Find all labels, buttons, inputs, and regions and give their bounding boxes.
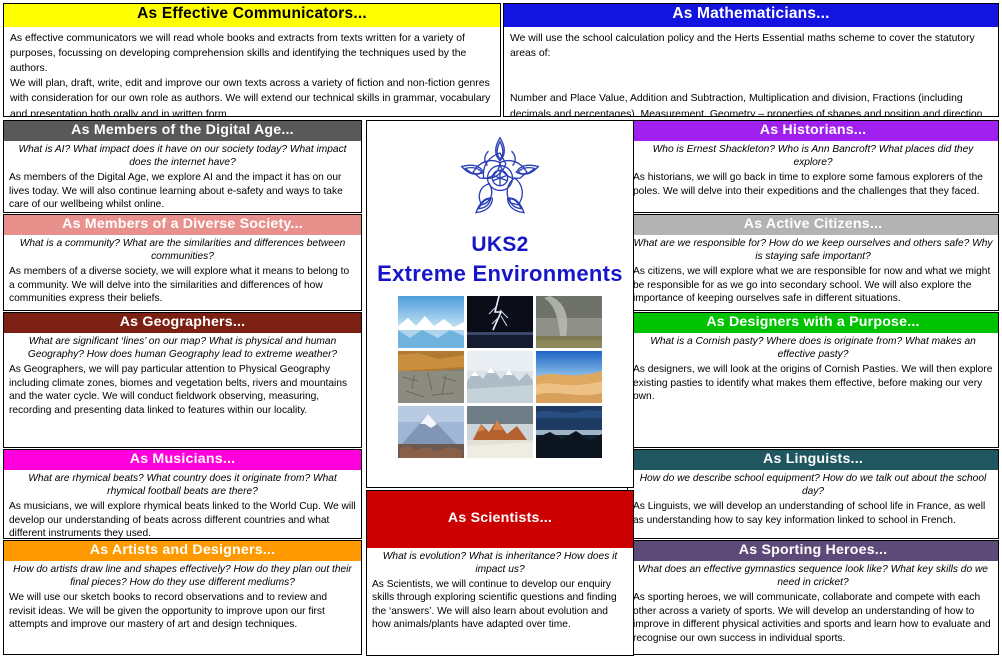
panel-mathematicians: As Mathematicians... We will use the sch… bbox=[503, 3, 999, 117]
panel-question-members-of-the-digital-age: What is AI? What impact does it have on … bbox=[9, 144, 356, 170]
photo-snow-covered-mountain-range bbox=[467, 351, 533, 403]
panel-question-sporting-heroes: What does an effective gymnastics sequen… bbox=[633, 564, 993, 590]
panel-body-mathematicians: We will use the school calculation polic… bbox=[504, 27, 998, 117]
panel-text-mathematicians: We will use the school calculation polic… bbox=[510, 31, 992, 117]
photo-lightning-strike-over-water bbox=[467, 296, 533, 348]
panel-header-artists-and-designers: As Artists and Designers... bbox=[4, 541, 361, 561]
panel-body-members-of-the-digital-age: What is AI? What impact does it have on … bbox=[4, 141, 361, 213]
curriculum-overview-sheet: As Effective Communicators... As effecti… bbox=[0, 0, 1002, 656]
panel-text-geographers: As Geographers, we will pay particular a… bbox=[9, 363, 356, 417]
panel-text-linguists: As Linguists, we will develop an underst… bbox=[633, 500, 993, 527]
panel-header-scientists: As Scientists... bbox=[367, 491, 633, 548]
panel-header-mathematicians: As Mathematicians... bbox=[504, 4, 998, 27]
photo-sand-dunes-in-desert bbox=[536, 351, 602, 403]
photo-tornado-over-plains bbox=[536, 296, 602, 348]
photo-arid-cracked-badlands bbox=[398, 351, 464, 403]
panel-question-artists-and-designers: How do artists draw line and shapes effe… bbox=[9, 564, 356, 590]
panel-linguists: As Linguists... How do we describe schoo… bbox=[627, 449, 999, 539]
panel-text-sporting-heroes: As sporting heroes, we will communicate,… bbox=[633, 591, 993, 645]
panel-body-geographers: What are significant ‘lines’ on our map?… bbox=[4, 333, 361, 419]
panel-body-artists-and-designers: How do artists draw line and shapes effe… bbox=[4, 561, 361, 633]
panel-header-effective-communicators: As Effective Communicators... bbox=[4, 4, 500, 27]
extreme-environments-photo-grid bbox=[398, 296, 602, 458]
panel-question-geographers: What are significant ‘lines’ on our map?… bbox=[9, 336, 356, 362]
panel-text-scientists: As Scientists, we will continue to devel… bbox=[372, 578, 628, 632]
panel-body-historians: Who is Ernest Shackleton? Who is Ann Ban… bbox=[628, 141, 998, 200]
panel-header-linguists: As Linguists... bbox=[628, 450, 998, 470]
panel-question-designers-with-a-purpose: What is a Cornish pasty? Where does is o… bbox=[633, 336, 993, 362]
panel-sporting-heroes: As Sporting Heroes... What does an effec… bbox=[627, 540, 999, 655]
panel-text-active-citizens: As citizens, we will explore what we are… bbox=[633, 265, 993, 305]
panel-effective-communicators: As Effective Communicators... As effecti… bbox=[3, 3, 501, 117]
panel-question-musicians: What are rhymical beats? What country do… bbox=[9, 473, 356, 499]
panel-body-designers-with-a-purpose: What is a Cornish pasty? Where does is o… bbox=[628, 333, 998, 405]
panel-header-members-of-a-diverse-society: As Members of a Diverse Society... bbox=[4, 215, 361, 235]
panel-artists-and-designers: As Artists and Designers... How do artis… bbox=[3, 540, 362, 655]
panel-text-artists-and-designers: We will use our sketch books to record o… bbox=[9, 591, 356, 631]
panel-body-sporting-heroes: What does an effective gymnastics sequen… bbox=[628, 561, 998, 647]
photo-desert-rock-formation bbox=[467, 406, 533, 458]
panel-body-scientists: What is evolution? What is inheritance? … bbox=[367, 548, 633, 634]
panel-body-members-of-a-diverse-society: What is a community? What are the simila… bbox=[4, 235, 361, 307]
panel-text-musicians: As musicians, we will explore rhymical b… bbox=[9, 500, 356, 539]
panel-text-effective-communicators: As effective communicators we will read … bbox=[10, 31, 494, 117]
panel-question-historians: Who is Ernest Shackleton? Who is Ann Ban… bbox=[633, 144, 993, 170]
panel-scientists: As Scientists... What is evolution? What… bbox=[366, 490, 634, 656]
panel-text-designers-with-a-purpose: As designers, we will look at the origin… bbox=[633, 363, 993, 403]
panel-members-of-the-digital-age: As Members of the Digital Age... What is… bbox=[3, 120, 362, 213]
centre-topic-panel: UKS2 Extreme Environments bbox=[366, 120, 634, 488]
panel-body-active-citizens: What are we responsible for? How do we k… bbox=[628, 235, 998, 307]
key-stage-label: UKS2 bbox=[471, 233, 528, 257]
panel-header-sporting-heroes: As Sporting Heroes... bbox=[628, 541, 998, 561]
tudor-rose-logo-icon bbox=[452, 130, 548, 231]
panel-question-members-of-a-diverse-society: What is a community? What are the simila… bbox=[9, 238, 356, 264]
panel-question-scientists: What is evolution? What is inheritance? … bbox=[372, 551, 628, 577]
panel-members-of-a-diverse-society: As Members of a Diverse Society... What … bbox=[3, 214, 362, 311]
panel-active-citizens: As Active Citizens... What are we respon… bbox=[627, 214, 999, 311]
panel-body-linguists: How do we describe school equipment? How… bbox=[628, 470, 998, 529]
panel-header-historians: As Historians... bbox=[628, 121, 998, 141]
panel-historians: As Historians... Who is Ernest Shackleto… bbox=[627, 120, 999, 213]
panel-text-historians: As historians, we will go back in time t… bbox=[633, 171, 993, 198]
panel-musicians: As Musicians... What are rhymical beats?… bbox=[3, 449, 362, 539]
panel-question-active-citizens: What are we responsible for? How do we k… bbox=[633, 238, 993, 264]
photo-snow-capped-volcano bbox=[398, 406, 464, 458]
panel-designers-with-a-purpose: As Designers with a Purpose... What is a… bbox=[627, 312, 999, 448]
panel-header-geographers: As Geographers... bbox=[4, 313, 361, 333]
panel-question-linguists: How do we describe school equipment? How… bbox=[633, 473, 993, 499]
panel-header-active-citizens: As Active Citizens... bbox=[628, 215, 998, 235]
panel-body-effective-communicators: As effective communicators we will read … bbox=[4, 27, 500, 117]
panel-text-members-of-a-diverse-society: As members of a diverse society, we will… bbox=[9, 265, 356, 305]
panel-header-members-of-the-digital-age: As Members of the Digital Age... bbox=[4, 121, 361, 141]
topic-title: Extreme Environments bbox=[377, 261, 623, 287]
panel-text-members-of-the-digital-age: As members of the Digital Age, we explor… bbox=[9, 171, 356, 211]
panel-header-musicians: As Musicians... bbox=[4, 450, 361, 470]
panel-header-designers-with-a-purpose: As Designers with a Purpose... bbox=[628, 313, 998, 333]
panel-geographers: As Geographers... What are significant ‘… bbox=[3, 312, 362, 448]
photo-icebergs-in-polar-sea bbox=[398, 296, 464, 348]
photo-dark-storm-over-mountains bbox=[536, 406, 602, 458]
panel-body-musicians: What are rhymical beats? What country do… bbox=[4, 470, 361, 539]
